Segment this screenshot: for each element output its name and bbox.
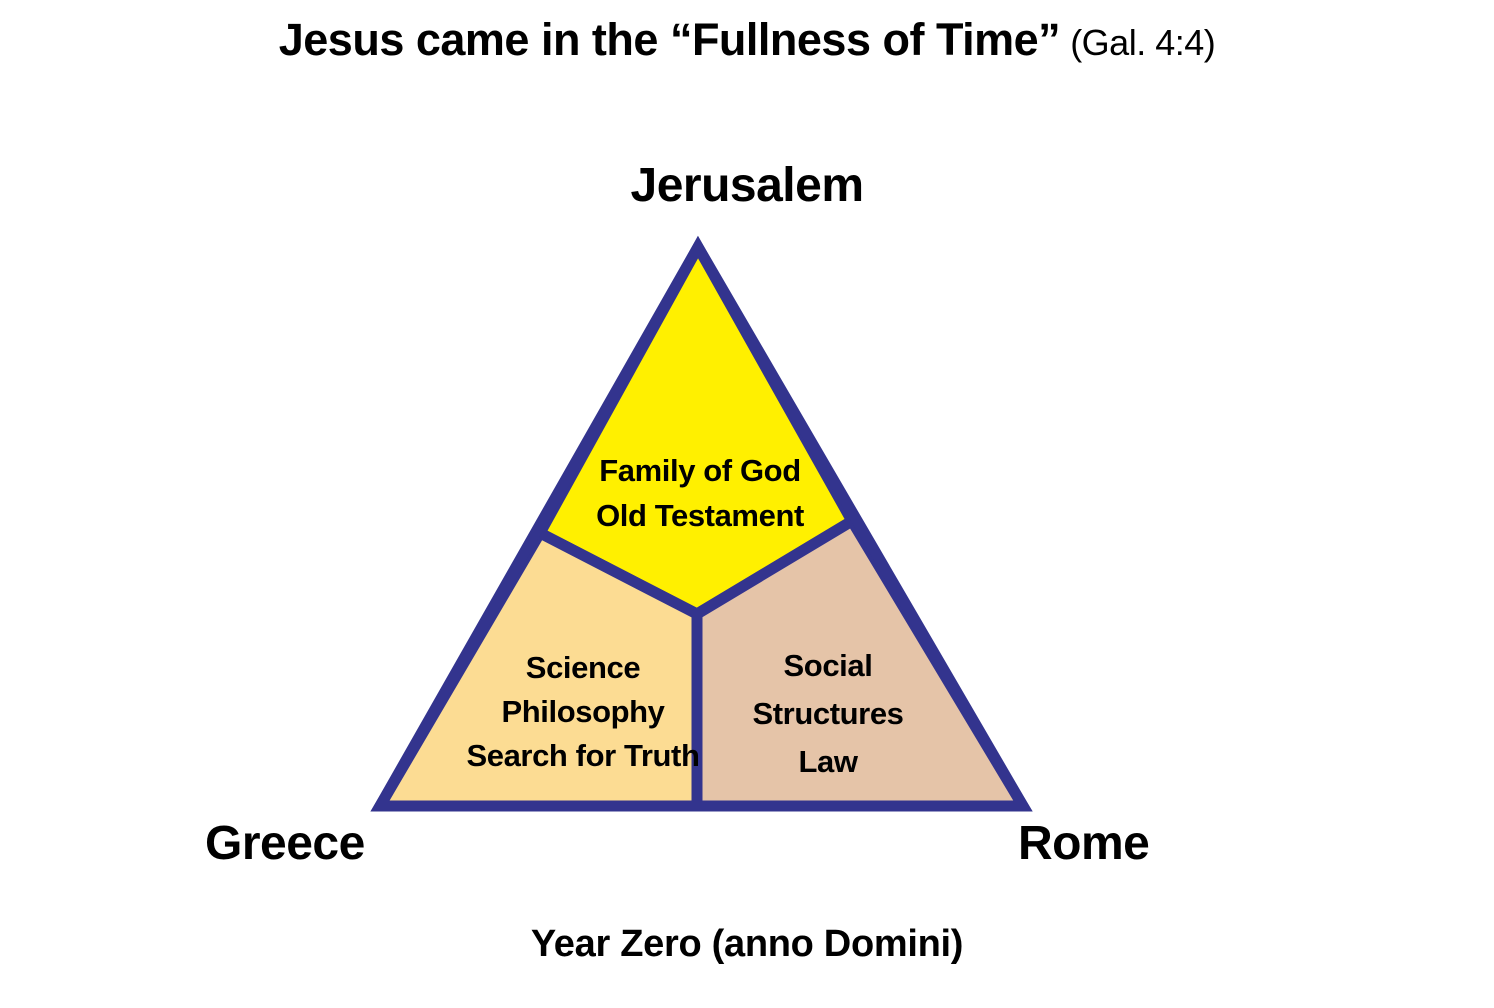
segment-left-line-2: Philosophy	[501, 694, 665, 729]
segment-right-line-2: Structures	[752, 696, 903, 731]
vertex-label-greece: Greece	[205, 816, 365, 871]
segment-right-line-3: Law	[798, 744, 858, 779]
segment-left-line-3: Search for Truth	[466, 738, 699, 773]
segment-top-line-1: Family of God	[599, 453, 800, 488]
segment-right-line-1: Social	[784, 648, 873, 683]
vertex-label-rome: Rome	[1018, 816, 1149, 871]
segment-left-line-1: Science	[526, 650, 641, 685]
diagram-caption: Year Zero (anno Domini)	[0, 923, 1494, 966]
segment-top-line-2: Old Testament	[596, 498, 804, 533]
